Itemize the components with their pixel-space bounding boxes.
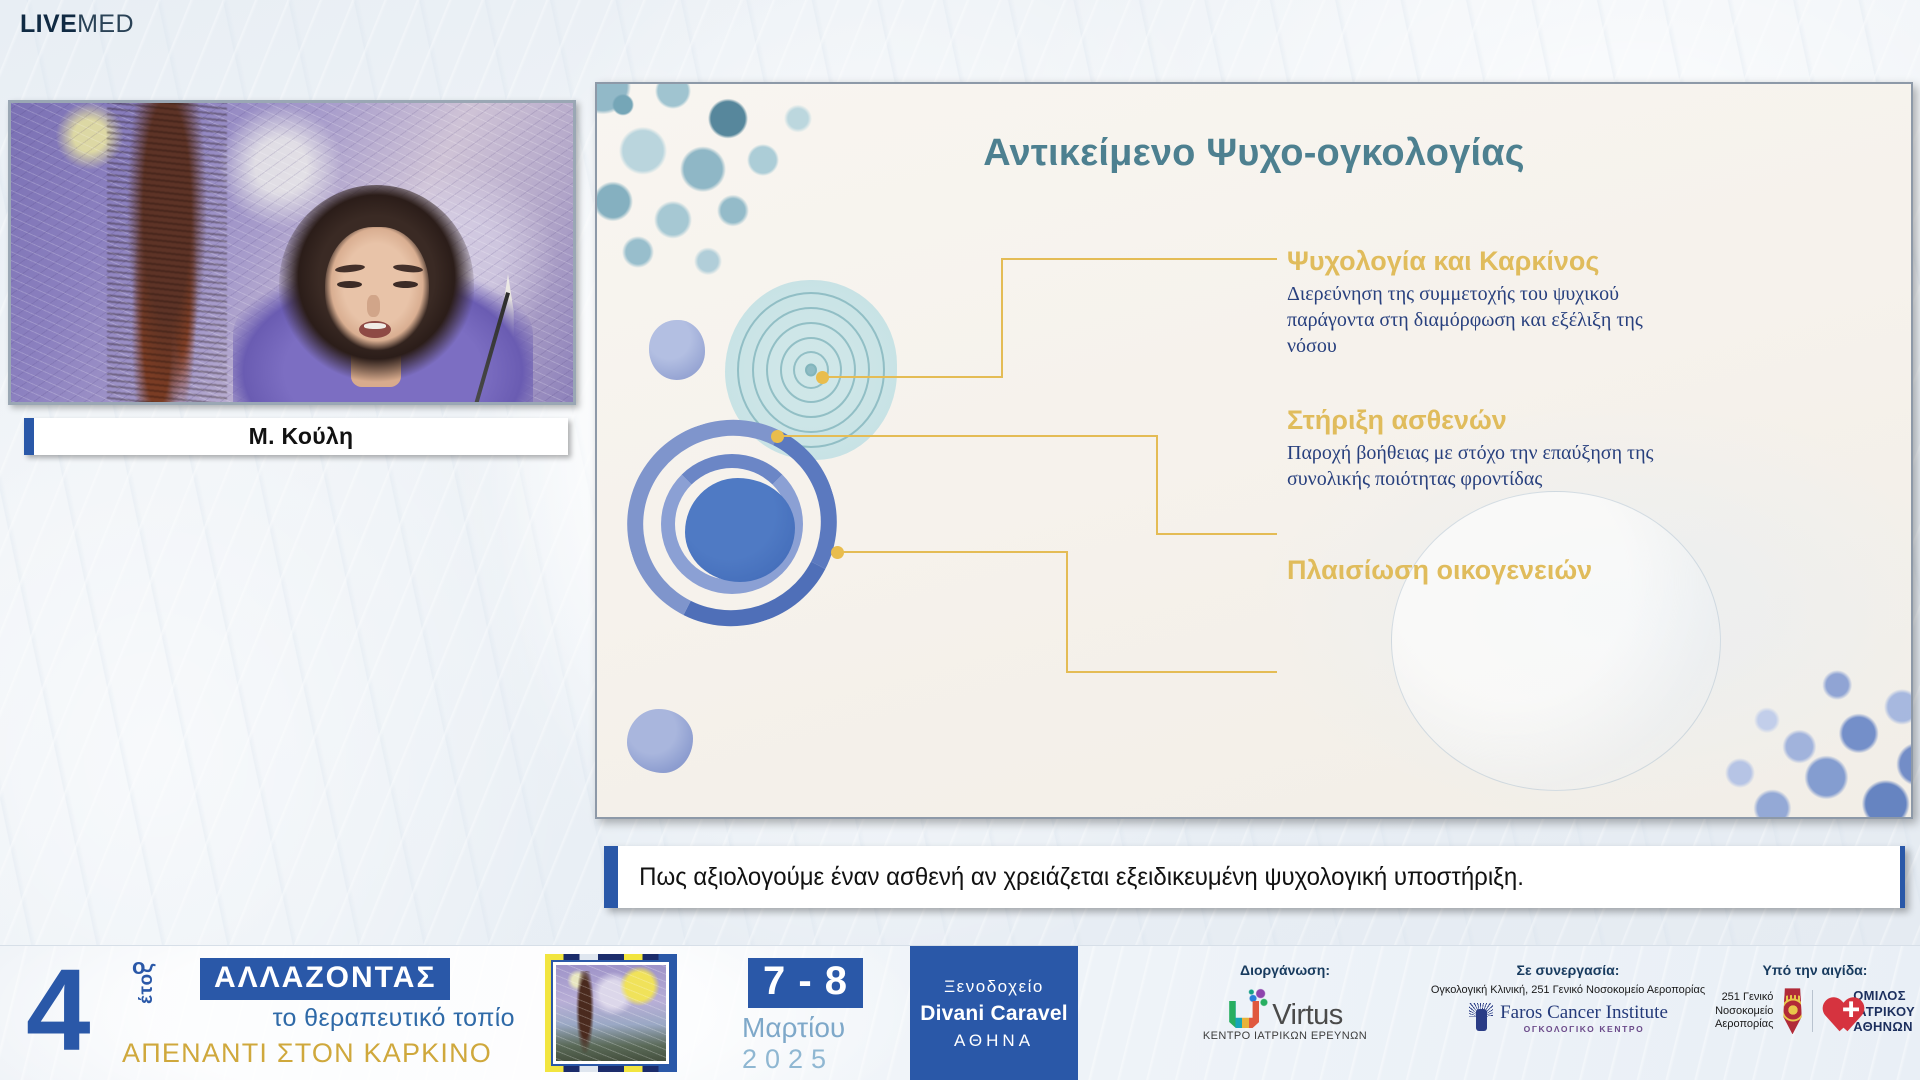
slide-block-2-heading: Στήριξη ασθενών: [1287, 406, 1697, 436]
event-month: Μαρτίου: [742, 1012, 845, 1044]
thumbnail-cypress: [576, 971, 594, 1054]
speaker-nose: [367, 295, 380, 317]
banner-title-third: ΑΠΕΝΑΝΤΙ ΣΤΟΝ ΚΑΡΚΙΝΟ: [98, 1038, 516, 1069]
caption-text: Πως αξιολογούμε έναν ασθενή αν χρειάζετα…: [618, 863, 1524, 892]
slide-block-2-body: Παροχή βοήθειας με στόχο την επαύξηση τη…: [1287, 440, 1697, 493]
connector-lines: [597, 84, 1913, 819]
organizer-group: Διοργάνωση: Virtus ΚΕΝΤΡΟ ΙΑΤΡΙΚΩΝ ΕΡΕΥΝ…: [1195, 962, 1375, 1042]
venue-label: Ξενοδοχείο: [944, 977, 1044, 997]
caption-bar: Πως αξιολογούμε έναν ασθενή αν χρειάζετα…: [604, 846, 1905, 908]
aegis-hospital-text: 251 Γενικό Νοσοκομείο Αεροπορίας: [1715, 991, 1773, 1032]
video-cypress-tree: [107, 100, 227, 405]
collaboration-name: Faros Cancer Institute: [1500, 1002, 1668, 1023]
collaboration-group: Σε συνεργασία: Ογκολογική Κλινική, 251 Γ…: [1393, 962, 1743, 1034]
edition-year-word: έτος: [136, 962, 158, 1004]
connector-node-1: [816, 371, 829, 384]
speaker-mouth: [359, 321, 391, 338]
venue-city: ΑΘΗΝΑ: [954, 1031, 1034, 1051]
event-year: 2025: [742, 1044, 834, 1075]
speaker-eye-left: [337, 281, 362, 288]
banner-title-sub: το θεραπευτικό τοπίο: [200, 1004, 515, 1033]
medical-cross-icon: [1843, 1001, 1859, 1017]
slide-block-2: Στήριξη ασθενών Παροχή βοήθειας με στόχο…: [1287, 406, 1697, 492]
slide-block-3: Πλαισίωση οικογενειών: [1287, 556, 1697, 586]
virtus-mark-icon: [1227, 988, 1269, 1028]
collaboration-label: Σε συνεργασία:: [1393, 962, 1743, 978]
venue-name: Divani Caravel: [920, 1002, 1068, 1026]
virtus-logo: Virtus: [1195, 988, 1375, 1028]
presentation-slide[interactable]: Αντικείμενο Ψυχο-ογκολογίας Ψυχολογία κα…: [595, 82, 1913, 819]
organizer-sub: ΚΕΝΤΡΟ ΙΑΤΡΙΚΩΝ ΕΡΕΥΝΩΝ: [1195, 1030, 1375, 1042]
connector-node-2: [771, 430, 784, 443]
aegis-group: Υπό την αιγίδα: 251 Γενικό Νοσοκομείο Αε…: [1715, 962, 1915, 1035]
conference-banner: 4 ο έτος ΑΛΛΑΖΟΝΤΑΣ το θεραπευτικό τοπίο…: [0, 945, 1920, 1080]
air-force-crest-icon: [1783, 988, 1801, 1034]
speaker-eye-right: [393, 281, 418, 288]
slide-block-3-heading: Πλαισίωση οικογενειών: [1287, 556, 1697, 586]
thumbnail-artwork: [556, 965, 666, 1061]
event-venue: Ξενοδοχείο Divani Caravel ΑΘΗΝΑ: [910, 946, 1078, 1080]
aegis-label: Υπό την αιγίδα:: [1715, 962, 1915, 978]
banner-title-main: ΑΛΛΑΖΟΝΤΑΣ: [200, 958, 450, 1000]
organizer-label: Διοργάνωση:: [1195, 962, 1375, 978]
aegis-org-line-2: ΑΘΗΝΩΝ: [1853, 1019, 1915, 1035]
slide-block-1-body: Διερεύνηση της συμμετοχής του ψυχικού πα…: [1287, 281, 1697, 360]
logo-live-text: LIVE: [20, 10, 77, 38]
aegis-logos-row: 251 Γενικό Νοσοκομείο Αεροπορίας ΟΜΙΛΟΣ …: [1715, 988, 1915, 1035]
edition-number: 4: [26, 952, 87, 1068]
slide-block-1: Ψυχολογία και Καρκίνος Διερεύνηση της συ…: [1287, 247, 1697, 360]
connector-node-3: [831, 546, 844, 559]
speaker-name-text: Μ. Κούλη: [249, 423, 354, 450]
speaker-name-bar: Μ. Κούλη: [24, 418, 568, 455]
faros-logo: Faros Cancer Institute ΟΓΚΟΛΟΓΙΚΟ ΚΕΝΤΡΟ: [1393, 1002, 1743, 1034]
starry-night-thumbnail: [545, 954, 677, 1072]
collaboration-sub: ΟΓΚΟΛΟΓΙΚΟ ΚΕΝΤΡΟ: [1500, 1024, 1668, 1034]
speaker-video-panel[interactable]: [8, 100, 576, 405]
livemed-logo[interactable]: LIVEMED: [20, 12, 134, 37]
slide-block-1-heading: Ψυχολογία και Καρκίνος: [1287, 247, 1697, 277]
event-dates: 7 - 8: [748, 958, 863, 1008]
lighthouse-icon: [1468, 1003, 1494, 1033]
organizer-name: Virtus: [1272, 1002, 1343, 1028]
heart-icon: [1822, 992, 1843, 1030]
logo-med-text: MED: [77, 10, 134, 38]
collaboration-hospital-line: Ογκολογική Κλινική, 251 Γενικό Νοσοκομεί…: [1393, 984, 1743, 998]
